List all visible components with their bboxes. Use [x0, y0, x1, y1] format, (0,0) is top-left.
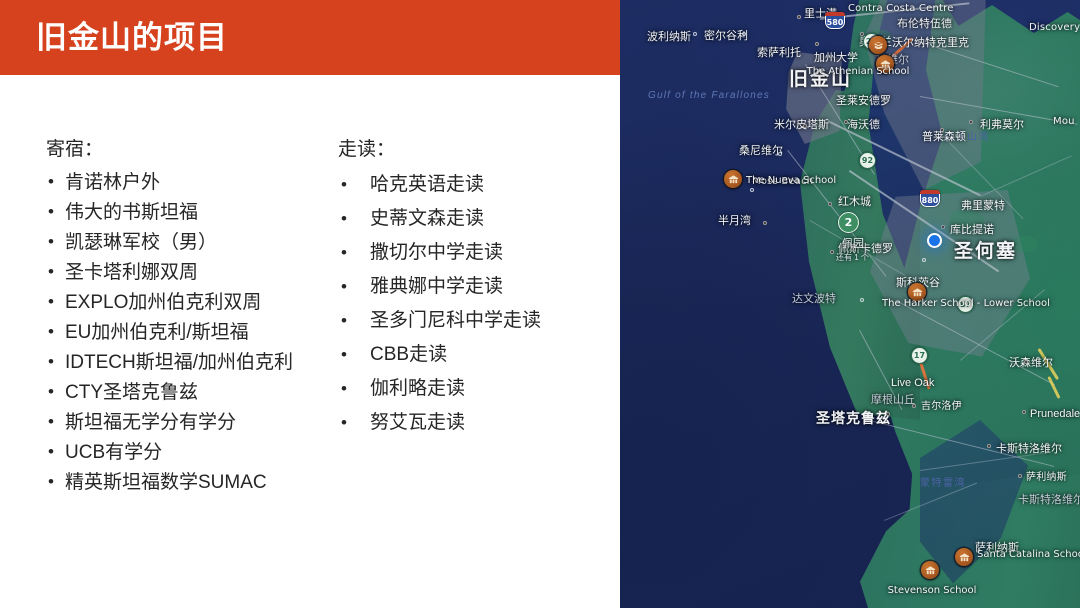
day-program-list: 哈克英语走读 史蒂文森走读 撒切尔中学走读 雅典娜中学走读 圣多门尼科中学走读 … [338, 168, 614, 440]
map-place-dot [830, 250, 834, 254]
map-label-gilroy: Prunedale [1030, 408, 1080, 420]
map-place-dot [1022, 410, 1026, 414]
list-item: CBB走读 [338, 338, 614, 372]
map-poi-cluster-sublabel[interactable]: 还有 1 个 [836, 252, 869, 264]
map-place-dot [763, 221, 767, 225]
map-marker-nueva-school[interactable] [724, 170, 742, 188]
map-label-hayward: 海沃德 [847, 119, 880, 131]
slide-root: 旧金山的项目 寄宿： 肯诺林户外 伟大的书斯坦福 凯瑟琳军校（男） 圣卡塔利娜双… [0, 0, 1080, 608]
page-title: 旧金山的项目 [36, 18, 228, 58]
route-shield-92[interactable]: 92 [859, 152, 876, 169]
map-place-dot [969, 120, 973, 124]
list-item: 肯诺林户外 [46, 168, 336, 198]
map-label-monterey-bay: 蒙特雷湾 [920, 478, 966, 490]
map-label-milpitas: 库比提诺 [950, 224, 994, 236]
map-place-dot [844, 120, 848, 124]
map-label-san-leandro: 圣莱安德罗 [836, 95, 891, 107]
map-label-redwood-city: 红木城 [838, 196, 871, 208]
map-label-live-oak: 吉尔洛伊 [921, 401, 962, 413]
map-label-santa-cruz: 圣塔克鲁兹 [816, 412, 891, 424]
map-label-pleasanton: 普莱森顿 [922, 131, 966, 143]
map-place-dot [940, 128, 944, 132]
list-item: 史蒂文森走读 [338, 202, 614, 236]
map-label-prunedale: 萨利纳斯 [1026, 472, 1067, 484]
column-boarding: 寄宿： 肯诺林户外 伟大的书斯坦福 凯瑟琳军校（男） 圣卡塔利娜双周 EXPLO… [46, 137, 336, 498]
map-label-stevenson-school[interactable]: Stevenson School [882, 585, 982, 596]
map-place-dot [1024, 360, 1028, 364]
route-shield-label: 17 [914, 351, 925, 360]
map-place-dot [922, 258, 926, 262]
list-item: 圣多门尼科中学走读 [338, 304, 614, 338]
map-place-dot [815, 42, 819, 46]
map-place-dot [860, 32, 864, 36]
map-image[interactable]: Gulf of the Farallones 旧金山湾 蒙特雷湾 旧金山 圣何塞… [620, 0, 1080, 608]
route-shield-580[interactable]: 580 [825, 12, 845, 29]
map-label-bolinas: 波利纳斯 [647, 31, 691, 43]
map-label-castroville: 卡斯特洛维尔 [1018, 494, 1080, 506]
map-label-discovery-bay: Discovery [1029, 22, 1080, 34]
route-shield-label: 580 [827, 18, 844, 27]
map-label-morgan-hill: 沃森维尔 [1009, 357, 1053, 369]
list-item: 圣卡塔利娜双周 [46, 258, 336, 288]
user-location-dot [927, 233, 942, 248]
list-item: EXPLO加州伯克利双周 [46, 288, 336, 318]
map-label-mill-valley: 密尔谷利 [704, 30, 748, 42]
map-label-brentwood: 布伦特伍德 [897, 18, 952, 30]
map-place-dot [941, 225, 945, 229]
map-place-dot [912, 404, 916, 408]
list-item: UCB有学分 [46, 438, 336, 468]
column-heading-day: 走读： [338, 137, 614, 163]
list-item: 斯坦福无学分有学分 [46, 408, 336, 438]
list-item: 撒切尔中学走读 [338, 236, 614, 270]
map-label-nueva-school[interactable]: The Nueva School [746, 175, 836, 186]
map-label-athenian-school[interactable]: The Athenian School [798, 66, 918, 77]
content-pane: 旧金山的项目 寄宿： 肯诺林户外 伟大的书斯坦福 凯瑟琳军校（男） 圣卡塔利娜双… [0, 0, 620, 608]
route-shield-880[interactable]: 880 [920, 190, 940, 207]
map-label-fremont: 弗里蒙特 [961, 200, 1005, 212]
list-item: IDTECH斯坦福/加州伯克利 [46, 348, 336, 378]
list-item: 凯瑟琳军校（男） [46, 228, 336, 258]
list-item: 伟大的书斯坦福 [46, 198, 336, 228]
column-day: 走读： 哈克英语走读 史蒂文森走读 撒切尔中学走读 雅典娜中学走读 圣多门尼科中… [338, 137, 614, 440]
map-label-harker-school[interactable]: The Harker School - Lower School [882, 298, 954, 309]
map-label-watsonville: 卡斯特洛维尔 [996, 443, 1062, 455]
route-shield-2[interactable]: 2 [838, 212, 859, 233]
map-place-dot [778, 152, 782, 156]
map-place-dot [1018, 474, 1022, 478]
list-item: 伽利略走读 [338, 372, 614, 406]
map-label-half-moon-bay: 半月湾 [718, 215, 751, 227]
map-place-dot [987, 444, 991, 448]
map-marker-santa-catalina-school[interactable] [955, 548, 973, 566]
map-label-scotts-valley: Live Oak [891, 377, 934, 389]
map-place-dot [886, 412, 890, 416]
map-label-davenport: 摩根山丘 [871, 394, 915, 406]
list-item: CTY圣塔克鲁兹 [46, 378, 336, 408]
list-item: 雅典娜中学走读 [338, 270, 614, 304]
map-label-san-jose: 圣何塞 [954, 246, 1017, 258]
map-marker-stevenson-school[interactable] [921, 561, 939, 579]
shield-band [920, 190, 940, 194]
map-place-dot [693, 32, 697, 36]
map-place-dot [742, 32, 746, 36]
map-label-pacifica: 桑尼维尔 [739, 145, 783, 157]
map-place-dot [860, 298, 864, 302]
map-poi-cluster-label[interactable]: 佩园 [842, 238, 864, 250]
list-item: 努艾瓦走读 [338, 406, 614, 440]
route-shield-label: 880 [922, 196, 939, 205]
map-label-sausalito: 索萨利托 [757, 47, 801, 59]
map-place-dot [797, 15, 801, 19]
route-shield-label: 92 [862, 156, 873, 165]
route-shield-label: 2 [845, 216, 853, 229]
bullet-columns: 寄宿： 肯诺林户外 伟大的书斯坦福 凯瑟琳军校（男） 圣卡塔利娜双周 EXPLO… [0, 75, 620, 608]
map-label-uc-berkeley: 加州大学 [814, 52, 858, 64]
boarding-program-list: 肯诺林户外 伟大的书斯坦福 凯瑟琳军校（男） 圣卡塔利娜双周 EXPLO加州伯克… [46, 168, 336, 498]
map-label-contra-costa-centre: Contra Costa Centre [848, 3, 928, 15]
map-label-mountain: Mou [1053, 116, 1075, 128]
map-place-dot [803, 124, 807, 128]
map-label-pescadero: 达文波特 [792, 293, 836, 305]
map-label-walnut-creek: 沃尔纳特克里克 [892, 37, 969, 49]
map-place-dot [750, 188, 754, 192]
column-heading-boarding: 寄宿： [46, 137, 336, 163]
list-item: 精英斯坦福数学SUMAC [46, 468, 336, 498]
map-marker-uc-berkeley[interactable] [869, 36, 887, 54]
list-item: EU加州伯克利/斯坦福 [46, 318, 336, 348]
list-item: 哈克英语走读 [338, 168, 614, 202]
map-place-dot [828, 202, 832, 206]
shield-band [825, 12, 845, 16]
route-shield-17[interactable]: 17 [911, 347, 928, 364]
map-label-santa-catalina-school[interactable]: Santa Catalina School [977, 549, 1047, 560]
map-label-livermore: 利弗莫尔 [980, 119, 1024, 131]
map-label-gulf-of-the-farallones: Gulf of the Farallones [648, 88, 738, 103]
map-label-daly-city: 米尔皮塔斯 [774, 119, 829, 131]
